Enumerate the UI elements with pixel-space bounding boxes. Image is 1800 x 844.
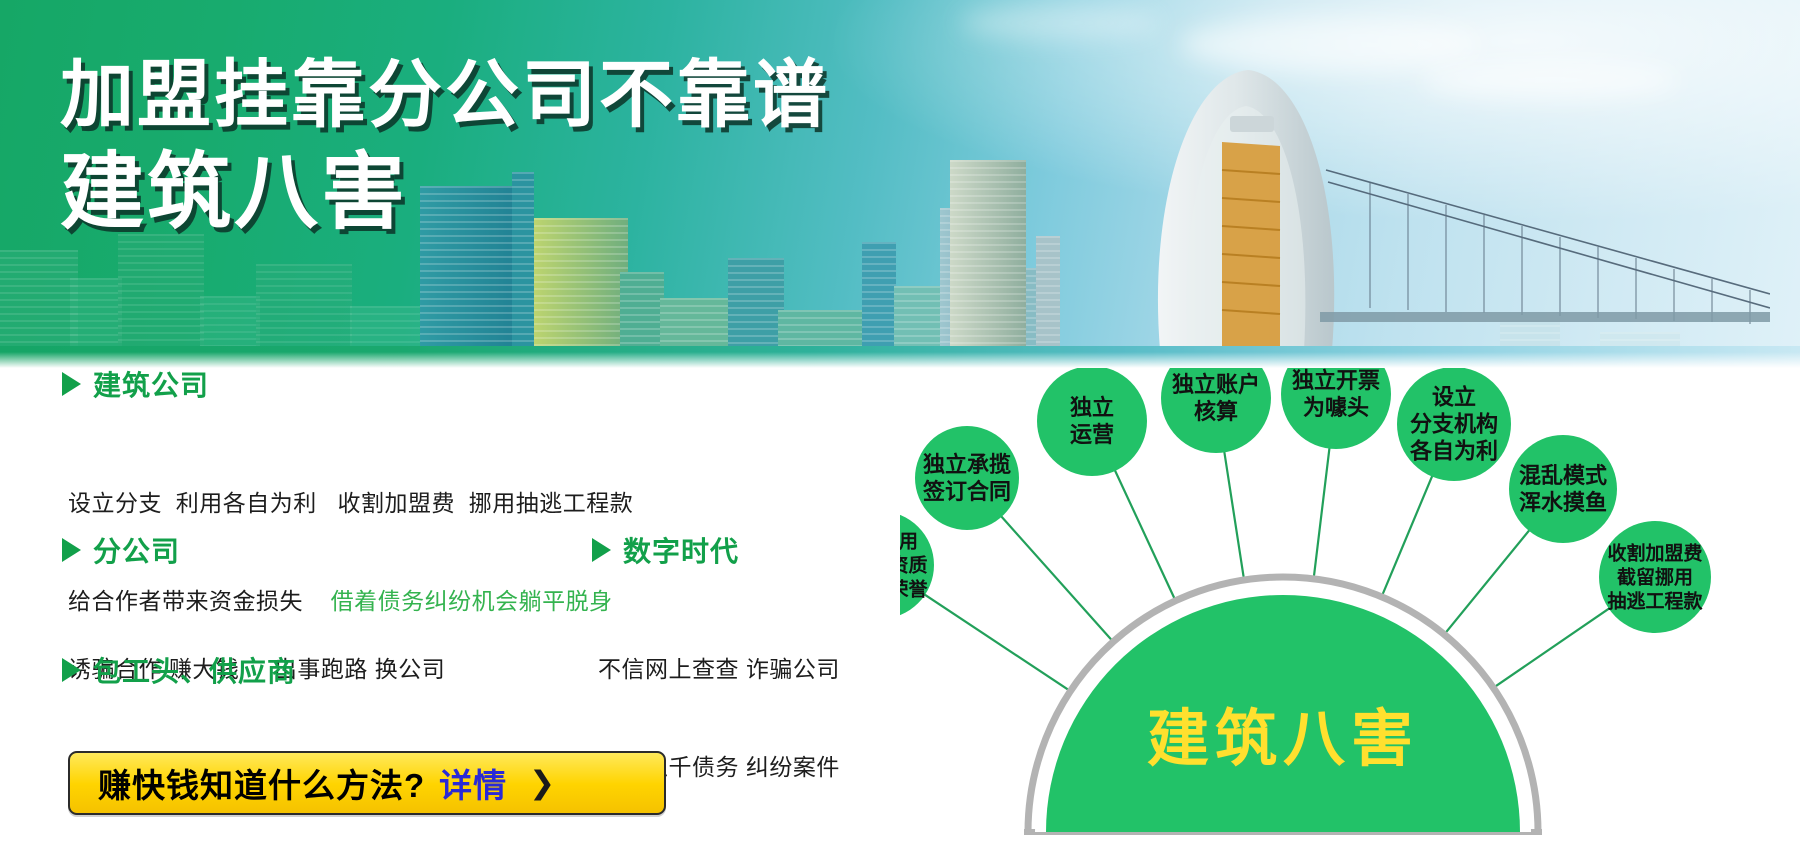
connector-line-bubble-8: [1497, 609, 1609, 686]
triangle-right-icon: [62, 372, 81, 396]
dome-label: 建筑八害: [1147, 705, 1419, 774]
bubble-label: 设立: [1432, 385, 1476, 410]
hero-title-line2: 建筑八害: [60, 148, 830, 237]
bubble-7[interactable]: 混乱模式浑水摸鱼: [1509, 435, 1617, 543]
bubble-label: 独立: [1070, 395, 1114, 420]
bubble-label: 抽逃工程款: [1607, 590, 1703, 613]
section-line: 不信网上查查 诈骗公司: [598, 653, 840, 686]
connector-line-bubble-5: [1314, 449, 1329, 575]
connector-line-bubble-4: [1224, 452, 1243, 576]
bubble-label: 总公司资质: [900, 554, 928, 577]
triangle-right-icon: [62, 658, 81, 682]
bubble-circle[interactable]: [1509, 435, 1617, 543]
bubble-label: 独立开票: [1292, 368, 1380, 393]
bubble-4[interactable]: 独立账户核算: [1161, 368, 1271, 453]
diagram-canvas: 建筑八害借着使用总公司资质业绩和荣誉独立承揽签订合同独立运营独立账户核算独立开票…: [900, 368, 1800, 844]
section-header: 包工头、供应商: [62, 650, 448, 690]
connector-line-bubble-7: [1447, 531, 1529, 632]
bridge-illustration: [1130, 50, 1770, 350]
bubble-8[interactable]: 收割加盟费截留挪用抽逃工程款: [1599, 521, 1711, 633]
section-title: 分公司: [93, 530, 180, 570]
bubble-label: 为噱头: [1303, 395, 1369, 420]
poster-root: 加盟挂靠分公司不靠谱 建筑八害 建筑公司 设立分支 利用各自为利 收割加盟费 挪…: [0, 0, 1800, 844]
cta-main-label: 赚快钱知道什么方法?: [98, 759, 425, 807]
bubble-5[interactable]: 独立开票为噱头: [1281, 368, 1391, 449]
building-tall-1: [950, 160, 1026, 368]
hero-title-line1: 加盟挂靠分公司不靠谱: [60, 56, 830, 134]
hero-banner: 加盟挂靠分公司不靠谱 建筑八害: [0, 0, 1800, 368]
section-title: 包工头、供应商: [93, 650, 296, 690]
connector-line-bubble-1: [925, 595, 1067, 689]
bubble-3[interactable]: 独立运营: [1037, 368, 1147, 476]
bubble-label: 混乱模式: [1519, 463, 1607, 488]
triangle-right-icon: [62, 538, 81, 562]
hero-title-group: 加盟挂靠分公司不靠谱 建筑八害: [60, 56, 830, 237]
bubble-label: 独立账户: [1172, 372, 1260, 397]
bubble-label: 浑水摸鱼: [1519, 490, 1607, 515]
bubble-label: 核算: [1194, 399, 1238, 424]
connector-line-bubble-6: [1383, 477, 1432, 594]
section-line: 设立分支 利用各自为利 收割加盟费 挪用抽逃工程款: [68, 487, 633, 520]
bubble-label: 运营: [1070, 422, 1114, 447]
bubble-label: 各自为利: [1409, 439, 1498, 464]
bubble-label: 借着使用: [900, 530, 918, 553]
cloud-3: [960, 6, 1160, 40]
bubble-6[interactable]: 设立分支机构各自为利: [1397, 368, 1511, 481]
cta-link-label[interactable]: 详情: [439, 759, 507, 807]
bubble-1[interactable]: 借着使用总公司资质业绩和荣誉: [900, 511, 934, 619]
chevron-right-icon: ❯: [529, 765, 555, 801]
bubble-circle[interactable]: [915, 426, 1019, 530]
bubble-label: 收割加盟费: [1607, 542, 1702, 565]
section-header: 分公司: [62, 530, 445, 570]
bubble-label: 分支机构: [1410, 412, 1498, 437]
bubble-label: 签订合同: [922, 479, 1011, 504]
section-header: 建筑公司: [62, 364, 633, 404]
bubble-2[interactable]: 独立承揽签订合同: [915, 426, 1019, 530]
connector-line-bubble-2: [1002, 517, 1111, 639]
cta-button[interactable]: 赚快钱知道什么方法? 详情 ❯: [68, 751, 666, 815]
left-content: 建筑公司 设立分支 利用各自为利 收割加盟费 挪用抽逃工程款 给合作者带来资金损…: [0, 368, 900, 844]
bubble-diagram: 建筑八害借着使用总公司资质业绩和荣誉独立承揽签订合同独立运营独立账户核算独立开票…: [900, 368, 1800, 844]
bubble-label: 业绩和荣誉: [900, 578, 928, 601]
connector-line-bubble-3: [1115, 471, 1174, 597]
section-title: 建筑公司: [93, 364, 209, 404]
section-header: 数字时代: [592, 530, 840, 570]
bubble-label: 截留挪用: [1617, 566, 1693, 589]
section-title: 数字时代: [623, 530, 739, 570]
bubble-label: 独立承揽: [923, 452, 1011, 477]
triangle-right-icon: [592, 538, 611, 562]
